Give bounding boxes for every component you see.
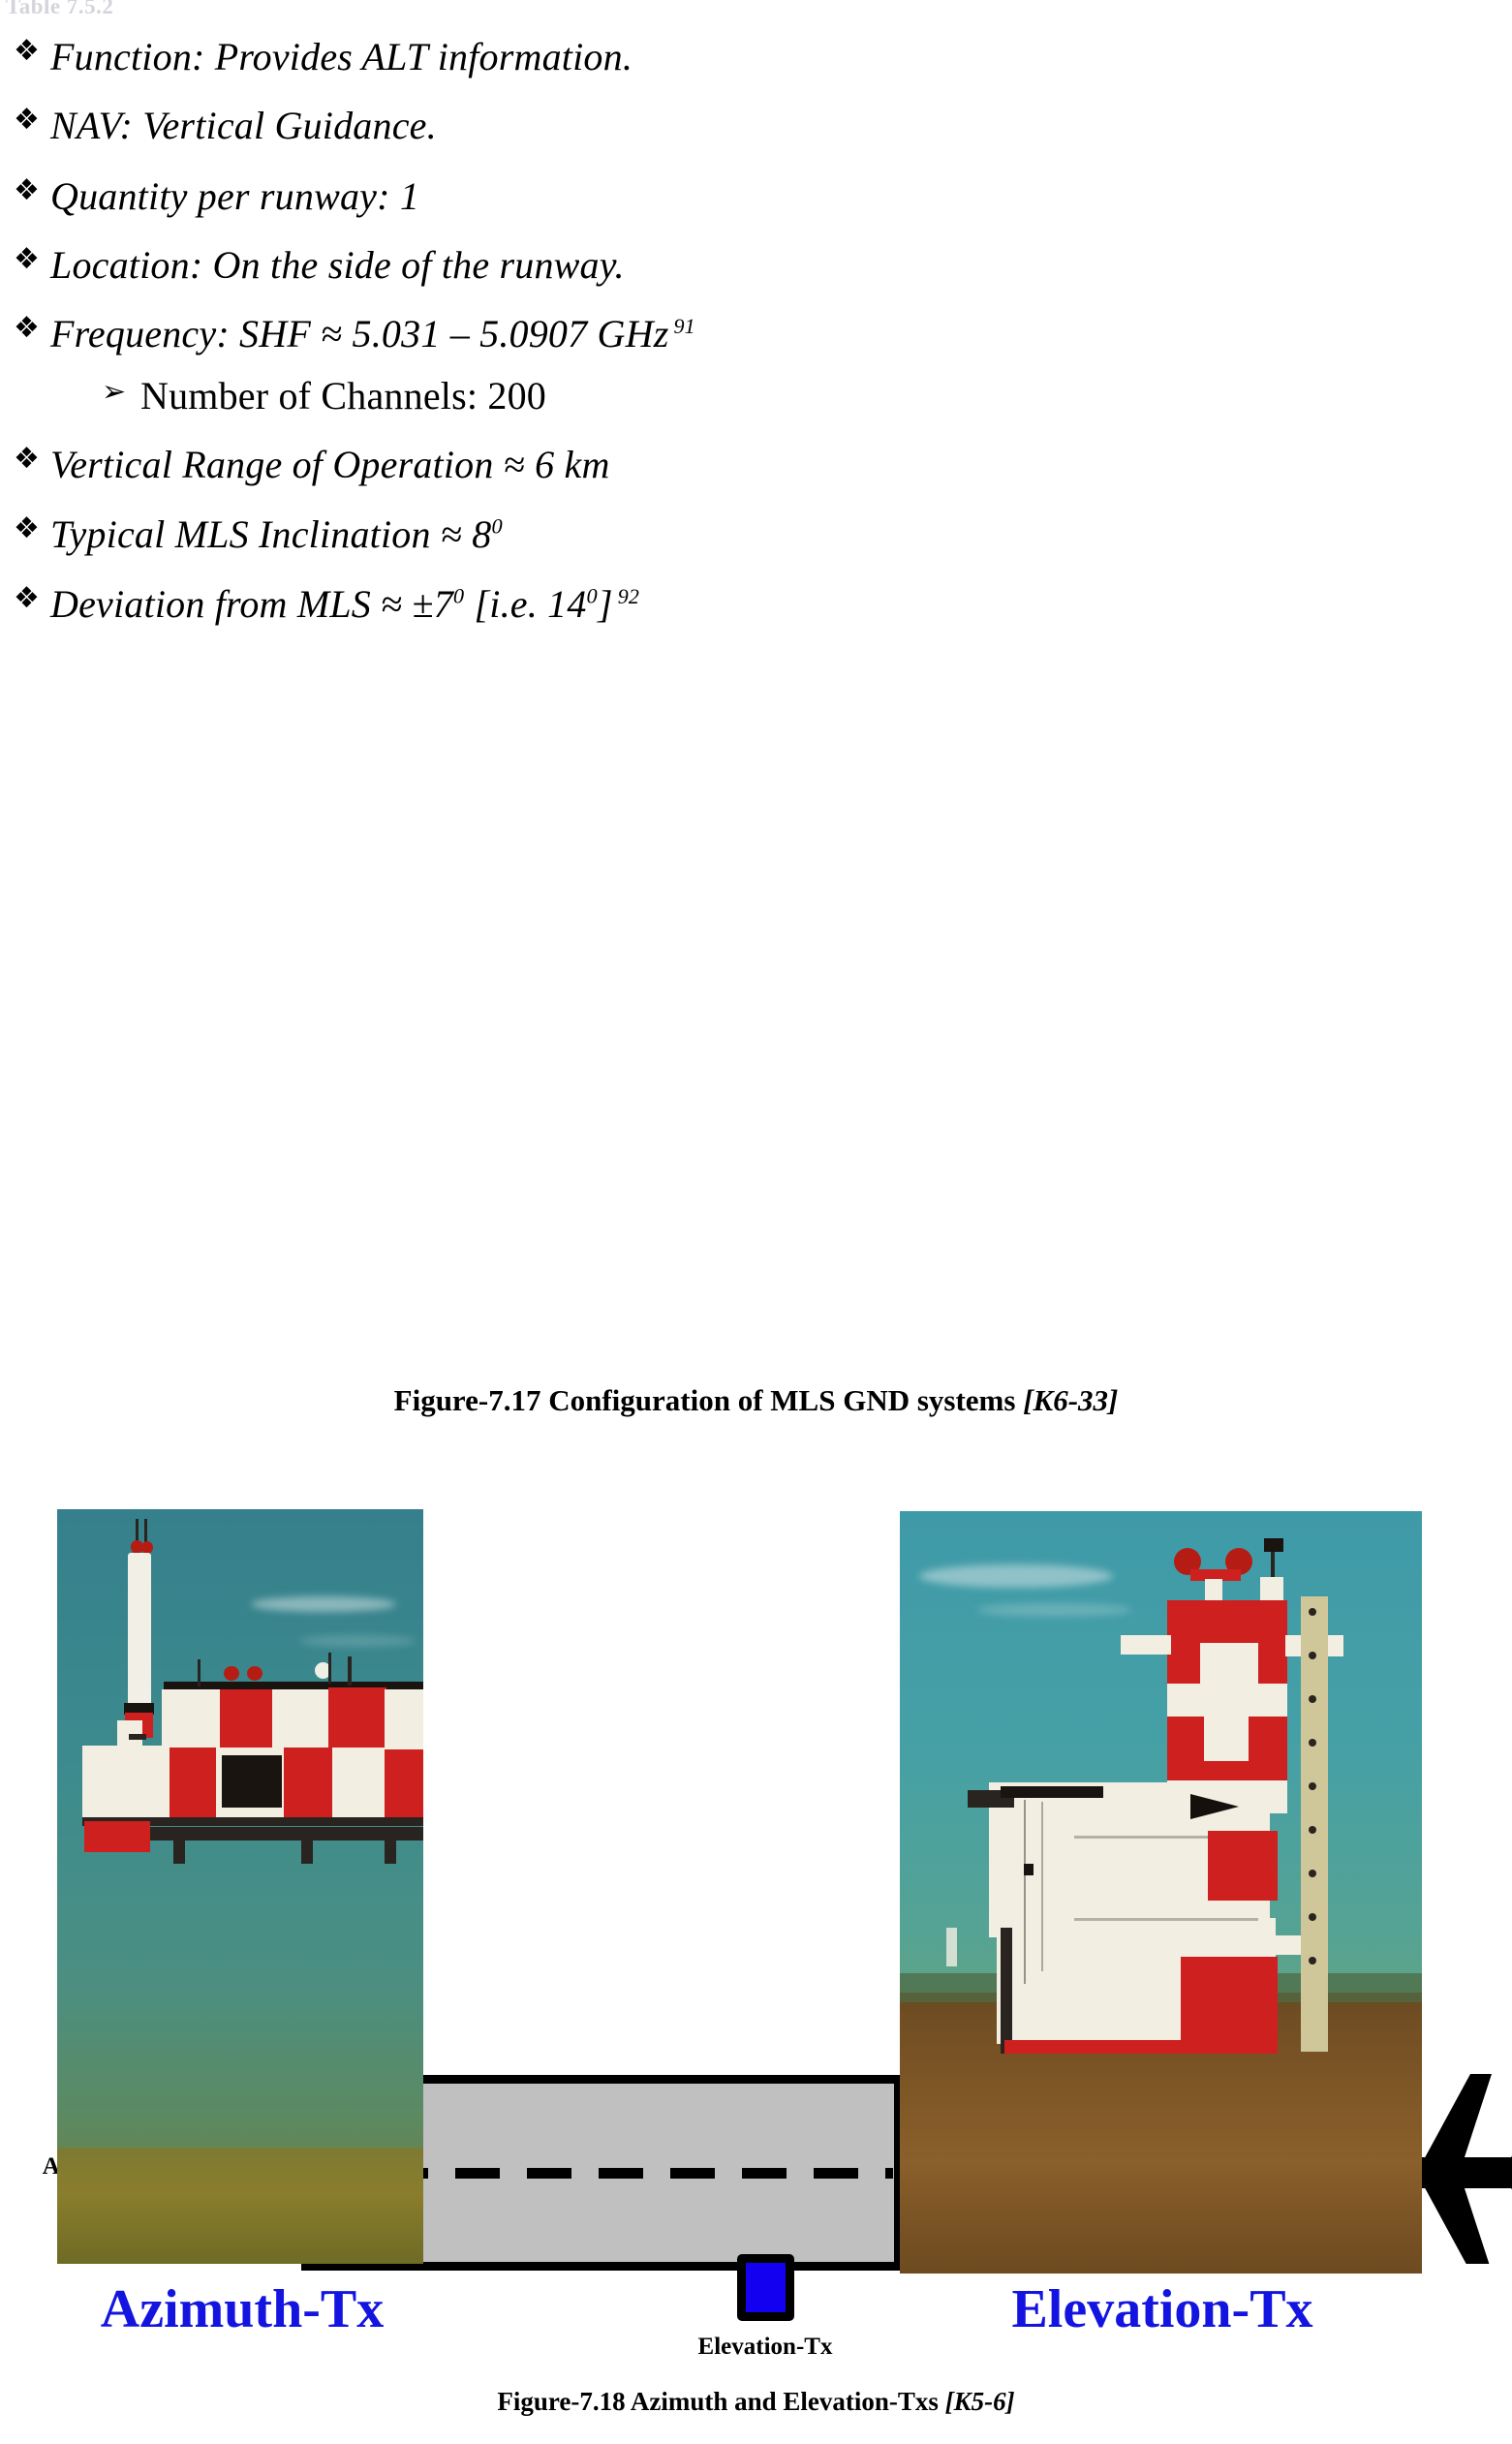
direction-arrow-icon: [1190, 1790, 1245, 1823]
bullet-deviation: ❖ Deviation from MLS ≈ ±70 [i.e. 140]92: [14, 584, 639, 625]
footnote-ref: 92: [613, 584, 639, 608]
antenna-whip: [198, 1659, 201, 1686]
caption-text: Figure-7.17 Configuration of MLS GND sys…: [394, 1383, 1024, 1417]
shelter-panel-white: [385, 1689, 423, 1749]
bullet-text: NAV: Vertical Guidance.: [50, 106, 437, 146]
distant-tower: [946, 1928, 957, 1966]
elevation-tx-box: [737, 2254, 794, 2321]
figure-718-caption: Figure-7.18 Azimuth and Elevation-Txs [K…: [0, 2387, 1512, 2417]
mast-rung: [1309, 1695, 1316, 1703]
photo-azimuth-tx: [57, 1509, 423, 2264]
cloud: [919, 1564, 1113, 1588]
mast-bracket: [129, 1734, 146, 1740]
obstruction-light: [247, 1666, 262, 1681]
bullet-nav: ❖ NAV: Vertical Guidance.: [14, 106, 437, 146]
diamond-bullet-icon: ❖: [14, 245, 50, 274]
tower-panel-red: [1167, 1600, 1287, 1649]
tower-arm-left-tip: [1125, 1641, 1144, 1655]
shelter-left-box: [82, 1746, 171, 1819]
light-post: [1205, 1579, 1222, 1600]
figure-717-caption: Figure-7.17 Configuration of MLS GND sys…: [0, 1383, 1512, 1418]
caption-citation: [K5-6]: [945, 2387, 1015, 2416]
subbullet-channels: ➢ Number of Channels: 200: [102, 376, 546, 417]
degree-superscript: 0: [453, 584, 464, 608]
azimuth-antenna-mast: [128, 1553, 151, 1706]
diamond-bullet-icon: ❖: [14, 445, 50, 474]
cloud: [299, 1635, 416, 1647]
antenna-panel-red: [1208, 1831, 1278, 1901]
bullet-text-main: Typical MLS Inclination ≈ 8: [50, 512, 491, 556]
bullet-text: Quantity per runway: 1: [50, 176, 419, 217]
degree-superscript: 0: [491, 514, 502, 539]
shelter-panel-red: [170, 1748, 220, 1819]
page-header-ghost: Table 7.5.2: [6, 0, 113, 19]
photo-label-azimuth-tx: Azimuth-Tx: [58, 2278, 426, 2340]
mast-rung: [1309, 1782, 1316, 1790]
sensor-box: [1260, 1577, 1283, 1600]
bullet-text: Vertical Range of Operation ≈ 6 km: [50, 445, 610, 485]
subbullet-text: Number of Channels: 200: [140, 376, 546, 417]
bullet-text: Frequency: SHF ≈ 5.031 – 5.0907 GHz91: [50, 314, 695, 355]
cloud: [251, 1596, 396, 1612]
shelter-panel-red: [385, 1749, 423, 1819]
caption-text: Figure-7.18 Azimuth and Elevation-Txs: [497, 2387, 944, 2416]
bullet-vertical-range: ❖ Vertical Range of Operation ≈ 6 km: [14, 445, 610, 485]
mls-configuration-diagram: A/L Azimuth-Tx Back Azimuth-Tx Elevation…: [0, 1022, 1512, 1361]
tower-panel-red: [1167, 1761, 1287, 1782]
trailer-leg: [173, 1837, 185, 1864]
photo-label-elevation-tx: Elevation-Tx: [901, 2278, 1424, 2340]
mast-rung: [1309, 1652, 1316, 1659]
degree-superscript-2: 0: [587, 584, 598, 608]
footnote-ref: 91: [668, 314, 694, 338]
shelter-panel-red: [328, 1687, 386, 1749]
trailer-leg: [301, 1837, 313, 1864]
bullet-quantity: ❖ Quantity per runway: 1: [14, 176, 419, 217]
panel-seam: [1041, 1802, 1043, 1971]
panel-seam: [1024, 1800, 1026, 1984]
antenna-head: [1264, 1538, 1283, 1552]
support-leg: [1001, 1928, 1012, 2054]
bullet-text: Typical MLS Inclination ≈ 80: [50, 514, 503, 555]
trailer-leg: [385, 1837, 396, 1864]
tower-panel-white: [1204, 1717, 1249, 1767]
tower-panel-white: [1200, 1643, 1258, 1684]
panel-seam: [1074, 1918, 1258, 1921]
shelter-panel-red: [220, 1689, 274, 1749]
mast-rung: [1309, 1608, 1316, 1616]
diamond-bullet-icon: ❖: [14, 176, 50, 205]
photo-elevation-tx: [900, 1511, 1422, 2274]
shelter-panel-white: [162, 1689, 222, 1749]
diamond-bullet-icon: ❖: [14, 514, 50, 543]
arrow-bullet-icon: ➢: [102, 376, 140, 408]
bullet-inclination: ❖ Typical MLS Inclination ≈ 80: [14, 514, 503, 555]
trailer-axle: [150, 1827, 423, 1841]
mast-rung: [1309, 1739, 1316, 1747]
bullet-text: Function: Provides ALT information.: [50, 37, 633, 77]
ground: [57, 2148, 423, 2264]
bullet-text: Deviation from MLS ≈ ±70 [i.e. 140]92: [50, 584, 639, 625]
bullet-text: Location: On the side of the runway.: [50, 245, 625, 286]
mast-rung: [1309, 1826, 1316, 1834]
bullet-location: ❖ Location: On the side of the runway.: [14, 245, 625, 286]
bullet-text-main: Frequency: SHF ≈ 5.031 – 5.0907 GHz: [50, 312, 668, 356]
diamond-bullet-icon: ❖: [14, 314, 50, 343]
diamond-bullet-icon: ❖: [14, 584, 50, 613]
shelter-panel-white: [272, 1689, 330, 1749]
antenna-top-rail: [1001, 1786, 1103, 1798]
bullet-text-part2: [i.e. 14: [464, 582, 586, 626]
diamond-bullet-icon: ❖: [14, 106, 50, 135]
shelter-panel-red: [284, 1748, 334, 1819]
mast-rung: [1309, 1870, 1316, 1877]
label-elevation-tx: Elevation-Tx: [620, 2332, 910, 2364]
cloud: [977, 1603, 1132, 1617]
diamond-bullet-icon: ❖: [14, 37, 50, 66]
antenna-whip: [348, 1656, 352, 1686]
mast-rung: [1309, 1913, 1316, 1921]
trailer-chassis-red: [84, 1821, 150, 1852]
obstruction-light: [224, 1666, 239, 1681]
base-frame-red: [1004, 2040, 1278, 2054]
bullet-frequency: ❖ Frequency: SHF ≈ 5.031 – 5.0907 GHz91: [14, 314, 695, 355]
shelter-panel-white: [332, 1748, 386, 1819]
antenna-panel-red: [1181, 1957, 1278, 2046]
document-page: Table 7.5.2 ❖ Function: Provides ALT inf…: [0, 0, 1512, 2444]
mast-rung: [1309, 1957, 1316, 1964]
antenna-whip: [328, 1653, 331, 1684]
bullet-text-main: Deviation from MLS ≈ ±7: [50, 582, 453, 626]
bullet-function: ❖ Function: Provides ALT information.: [14, 37, 633, 77]
nameplate: [1024, 1864, 1034, 1875]
bullet-text-part3: ]: [598, 582, 613, 626]
shelter-window: [222, 1755, 282, 1808]
monitor-mast: [1301, 1596, 1328, 2052]
caption-citation: [K6-33]: [1023, 1383, 1118, 1417]
